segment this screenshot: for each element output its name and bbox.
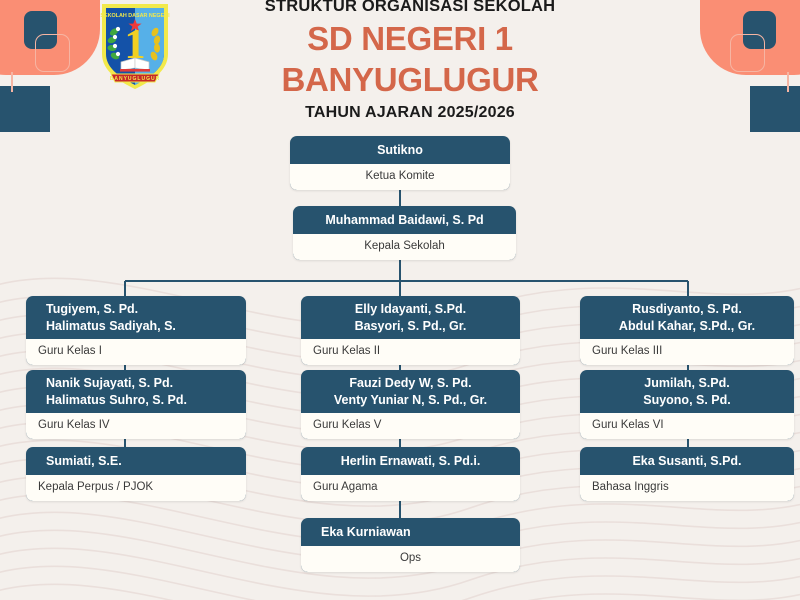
page-title-subtitle: STRUKTUR ORGANISASI SEKOLAH <box>180 0 640 16</box>
node-role-guru-agama: Guru Agama <box>301 475 520 501</box>
node-name-guru-agama: Herlin Ernawati, S. Pd.i. <box>301 447 520 475</box>
svg-text:BANYUGLUGUR: BANYUGLUGUR <box>110 76 160 82</box>
node-name-kepala-perpus: Sumiati, S.E. <box>26 447 246 475</box>
node-role-guru-kelas-5: Guru Kelas V <box>301 413 520 439</box>
page-title-academic-year: TAHUN AJARAN 2025/2026 <box>180 103 640 123</box>
node-name-line1: Elly Idayanti, S.Pd. <box>313 301 508 318</box>
node-kepala-perpus[interactable]: Sumiati, S.E. Kepala Perpus / PJOK <box>26 447 246 501</box>
node-name-line2: Venty Yuniar N, S. Pd., Gr. <box>313 392 508 409</box>
node-name-line1: Jumilah, S.Pd. <box>592 375 782 392</box>
node-name-line2: Halimatus Suhro, S. Pd. <box>46 392 234 409</box>
node-role-guru-kelas-6: Guru Kelas VI <box>580 413 794 439</box>
node-guru-agama[interactable]: Herlin Ernawati, S. Pd.i. Guru Agama <box>301 447 520 501</box>
node-name-ops: Eka Kurniawan <box>301 518 520 546</box>
node-name-line1: Rusdiyanto, S. Pd. <box>592 301 782 318</box>
node-name-guru-kelas-5: Fauzi Dedy W, S. Pd. Venty Yuniar N, S. … <box>301 370 520 413</box>
node-name-line1: Nanik Sujayati, S. Pd. <box>46 375 234 392</box>
node-name-guru-kelas-4: Nanik Sujayati, S. Pd. Halimatus Suhro, … <box>26 370 246 413</box>
node-name-ketua-komite: Sutikno <box>290 136 510 164</box>
node-guru-kelas-4[interactable]: Nanik Sujayati, S. Pd. Halimatus Suhro, … <box>26 370 246 439</box>
node-guru-kelas-2[interactable]: Elly Idayanti, S.Pd. Basyori, S. Pd., Gr… <box>301 296 520 365</box>
node-role-bahasa-inggris: Bahasa Inggris <box>580 475 794 501</box>
node-ops[interactable]: Eka Kurniawan Ops <box>301 518 520 572</box>
node-guru-kelas-3[interactable]: Rusdiyanto, S. Pd. Abdul Kahar, S.Pd., G… <box>580 296 794 365</box>
node-name-guru-kelas-2: Elly Idayanti, S.Pd. Basyori, S. Pd., Gr… <box>301 296 520 339</box>
node-guru-kelas-5[interactable]: Fauzi Dedy W, S. Pd. Venty Yuniar N, S. … <box>301 370 520 439</box>
header-title-block: STRUKTUR ORGANISASI SEKOLAH SD NEGERI 1 … <box>180 0 640 123</box>
node-name-bahasa-inggris: Eka Susanti, S.Pd. <box>580 447 794 475</box>
node-guru-kelas-6[interactable]: Jumilah, S.Pd. Suyono, S. Pd. Guru Kelas… <box>580 370 794 439</box>
node-name-line2: Basyori, S. Pd., Gr. <box>313 318 508 335</box>
node-role-kepala-sekolah: Kepala Sekolah <box>293 234 516 260</box>
node-name-line2: Suyono, S. Pd. <box>592 392 782 409</box>
node-name-guru-kelas-6: Jumilah, S.Pd. Suyono, S. Pd. <box>580 370 794 413</box>
node-role-ops: Ops <box>301 546 520 572</box>
node-role-ketua-komite: Ketua Komite <box>290 164 510 190</box>
node-role-guru-kelas-1: Guru Kelas I <box>26 339 246 365</box>
svg-text:SEKOLAH DASAR NEGERI: SEKOLAH DASAR NEGERI <box>100 13 170 19</box>
node-name-guru-kelas-1: Tugiyem, S. Pd. Halimatus Sadiyah, S. <box>26 296 246 339</box>
node-name-line1: Fauzi Dedy W, S. Pd. <box>313 375 508 392</box>
node-name-line1: Tugiyem, S. Pd. <box>46 301 234 318</box>
node-guru-kelas-1[interactable]: Tugiyem, S. Pd. Halimatus Sadiyah, S. Gu… <box>26 296 246 365</box>
node-ketua-komite[interactable]: Sutikno Ketua Komite <box>290 136 510 190</box>
node-role-guru-kelas-2: Guru Kelas II <box>301 339 520 365</box>
node-name-line2: Abdul Kahar, S.Pd., Gr. <box>592 318 782 335</box>
page-title-school: SD NEGERI 1 BANYUGLUGUR <box>180 18 640 100</box>
node-name-line2: Halimatus Sadiyah, S. <box>46 318 234 335</box>
node-role-kepala-perpus: Kepala Perpus / PJOK <box>26 475 246 501</box>
node-bahasa-inggris[interactable]: Eka Susanti, S.Pd. Bahasa Inggris <box>580 447 794 501</box>
node-role-guru-kelas-3: Guru Kelas III <box>580 339 794 365</box>
node-name-kepala-sekolah: Muhammad Baidawi, S. Pd <box>293 206 516 234</box>
page-header: SEKOLAH DASAR NEGERI 1 BANYUGLUGUR STRUK <box>0 0 800 100</box>
school-crest-logo: SEKOLAH DASAR NEGERI 1 BANYUGLUGUR <box>97 2 173 90</box>
node-name-guru-kelas-3: Rusdiyanto, S. Pd. Abdul Kahar, S.Pd., G… <box>580 296 794 339</box>
node-kepala-sekolah[interactable]: Muhammad Baidawi, S. Pd Kepala Sekolah <box>293 206 516 260</box>
node-role-guru-kelas-4: Guru Kelas IV <box>26 413 246 439</box>
